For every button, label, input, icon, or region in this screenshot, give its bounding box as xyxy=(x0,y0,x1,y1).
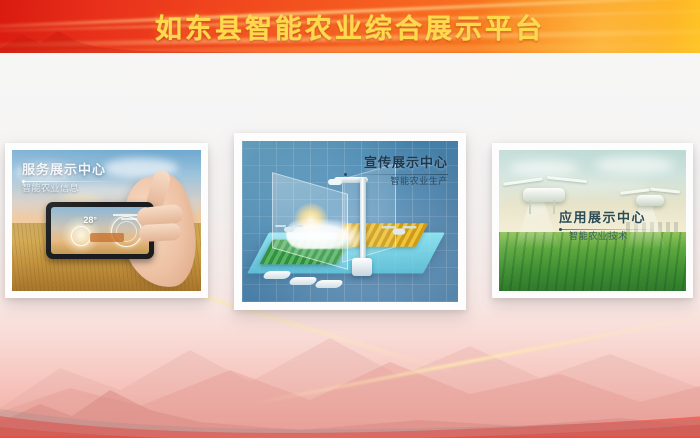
card-application-center-label: 应用展示中心 智能农业技术 xyxy=(559,212,655,242)
cloud xyxy=(286,219,364,249)
card-service-center[interactable]: 28° 服务展示中心 智能农业信息 xyxy=(5,143,208,298)
drone-icon xyxy=(503,172,587,216)
card-subtitle: 智能农业信息 xyxy=(22,185,118,194)
card-service-center-label: 服务展示中心 智能农业信息 xyxy=(22,164,118,194)
divider-dot xyxy=(22,180,25,183)
divider xyxy=(22,181,118,182)
card-title: 服务展示中心 xyxy=(22,164,118,177)
card-subtitle: 智能农业技术 xyxy=(559,233,655,242)
card-service-center-image: 28° 服务展示中心 智能农业信息 xyxy=(12,150,201,291)
divider xyxy=(559,229,655,230)
water-tank xyxy=(352,258,372,276)
card-subtitle: 智能农业生产 xyxy=(344,178,448,187)
divider xyxy=(344,174,448,175)
divider-dot xyxy=(559,228,562,231)
card-title: 宣传展示中心 xyxy=(344,157,448,170)
drone-icon xyxy=(385,226,413,236)
temperature-readout: 28° xyxy=(83,215,97,225)
divider-dot xyxy=(344,173,347,176)
smart-light-pole xyxy=(360,177,366,263)
card-promotion-center[interactable]: 宣传展示中心 智能农业生产 xyxy=(234,133,466,310)
card-application-center[interactable]: 应用展示中心 智能农业技术 xyxy=(492,143,693,298)
finger xyxy=(139,223,182,242)
phone-screen: 28° xyxy=(51,207,149,254)
card-promotion-center-label: 宣传展示中心 智能农业生产 xyxy=(344,157,448,187)
header-banner: 如东县智能农业综合展示平台 xyxy=(0,0,700,53)
app-root: 如东县智能农业综合展示平台 28° xyxy=(0,0,700,438)
card-title: 应用展示中心 xyxy=(559,212,655,225)
page-title: 如东县智能农业综合展示平台 xyxy=(0,0,700,53)
cloud xyxy=(595,156,675,174)
card-application-center-image: 应用展示中心 智能农业技术 xyxy=(499,150,686,291)
card-promotion-center-image: 宣传展示中心 智能农业生产 xyxy=(242,141,458,302)
lamp-head xyxy=(328,179,342,185)
hud-ring-icon xyxy=(71,226,91,246)
hud-chip xyxy=(90,233,124,242)
drone-icon xyxy=(278,225,300,233)
